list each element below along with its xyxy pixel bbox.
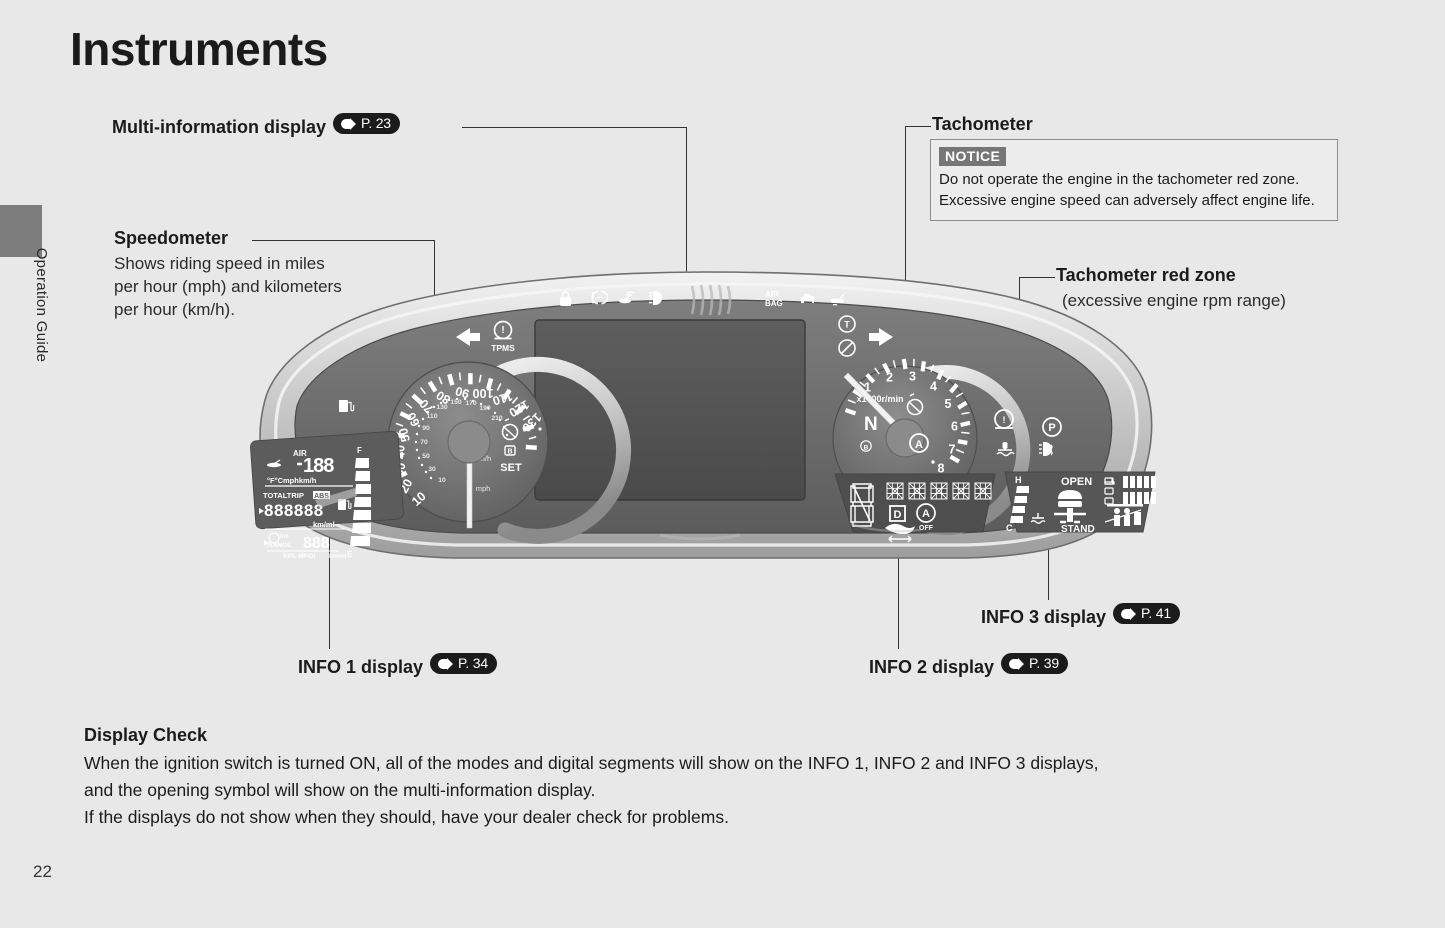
page-ref-pill-p39[interactable]: P. 39 (1001, 653, 1068, 674)
display-check-line-2: and the opening symbol will show on the … (84, 777, 1334, 804)
info1-fuel-f: F (357, 446, 362, 455)
multi-information-display-screen (535, 320, 805, 500)
arrow-icon (1118, 607, 1137, 619)
callout-info-3-display: INFO 3 displayP. 41 (981, 603, 1180, 628)
svg-text:B: B (507, 449, 512, 456)
svg-text:30: 30 (428, 466, 436, 473)
info3-open-label: OPEN (1061, 476, 1092, 488)
svg-text:B: B (864, 445, 869, 452)
info1-odo-unit: km/ml (313, 520, 335, 529)
svg-text:P: P (1048, 422, 1055, 434)
svg-text:110: 110 (427, 413, 438, 420)
svg-text:170: 170 (465, 400, 477, 407)
svg-text:130: 130 (436, 404, 448, 411)
svg-text:OFF: OFF (919, 525, 934, 532)
arrow-icon (1006, 657, 1025, 669)
svg-text:D: D (894, 509, 902, 521)
callout-info3-label: INFO 3 display (981, 607, 1106, 627)
neutral-indicator: N (864, 414, 878, 435)
callout-tachometer: Tachometer (932, 114, 1033, 135)
side-tab-label: Operation Guide (26, 220, 56, 390)
notice-line-2: Excessive engine speed can adversely aff… (939, 190, 1329, 211)
page-ref-text: P. 34 (458, 655, 488, 671)
svg-text:90: 90 (422, 425, 430, 432)
svg-text:2: 2 (886, 371, 893, 385)
callout-multi-information-label: Multi-information display (112, 117, 326, 137)
svg-text:50: 50 (422, 453, 430, 460)
callout-multi-information-display: Multi-information displayP. 23 (112, 113, 400, 138)
svg-text:6: 6 (951, 420, 958, 434)
page-ref-text: P. 23 (361, 115, 391, 131)
svg-text:4: 4 (930, 380, 937, 394)
speedometer-mph-unit: mph (476, 484, 491, 493)
callout-info-1-display: INFO 1 displayP. 34 (298, 653, 497, 678)
svg-text:A: A (915, 439, 923, 451)
callout-speedometer-label: Speedometer (114, 228, 414, 249)
info3-stand-label: STAND (1061, 524, 1095, 535)
page-ref-text: P. 41 (1141, 605, 1171, 621)
svg-text:!: ! (1003, 415, 1006, 425)
svg-text:210: 210 (491, 415, 503, 422)
svg-text:AIR: AIR (765, 290, 779, 299)
svg-text:TPMS: TPMS (491, 343, 515, 353)
callout-info1-label: INFO 1 display (298, 657, 423, 677)
page-ref-pill-p23[interactable]: P. 23 (333, 113, 400, 134)
page-ref-pill-p34[interactable]: P. 34 (430, 653, 497, 674)
svg-text:7: 7 (949, 443, 956, 457)
info-3-display: H C OPEN (1005, 472, 1156, 535)
svg-text:!: ! (501, 325, 504, 336)
page-title: Instruments (70, 22, 328, 76)
svg-text:188: 188 (303, 455, 334, 477)
svg-text:150: 150 (450, 399, 462, 406)
info1-fuel-e: E (347, 550, 353, 559)
svg-text:100: 100 (473, 386, 494, 400)
display-check-section: Display Check When the ignition switch i… (84, 725, 1334, 831)
svg-text:A: A (922, 508, 930, 520)
display-check-line-1: When the ignition switch is turned ON, a… (84, 750, 1334, 777)
info1-units: °F°Cmphkm/h (267, 476, 317, 485)
svg-text:T: T (844, 320, 850, 330)
info3-temp-h: H (1015, 475, 1022, 485)
display-check-heading: Display Check (84, 725, 1334, 746)
info1-range-value: 888 (303, 535, 330, 552)
page-ref-text: P. 39 (1029, 655, 1059, 671)
callout-tachometer-label: Tachometer (932, 114, 1033, 135)
svg-text:190: 190 (479, 405, 491, 412)
callout-info2-label: INFO 2 display (869, 657, 994, 677)
notice-tag: NOTICE (939, 147, 1006, 166)
display-check-line-3: If the displays do not show when they sh… (84, 804, 1334, 831)
svg-text:5: 5 (945, 397, 952, 411)
info1-range-label: RANGE (268, 542, 292, 549)
notice-box: NOTICE Do not operate the engine in the … (930, 139, 1338, 221)
callout-info-2-display: INFO 2 displayP. 39 (869, 653, 1068, 678)
set-label: SET (500, 462, 522, 474)
page-number: 22 (33, 862, 52, 882)
leader-line-multi-info-h (462, 127, 687, 128)
info1-range-unit: KP/L MP/Gl (283, 554, 316, 560)
info1-odometer: 888888 (264, 501, 324, 520)
svg-text:10: 10 (438, 477, 446, 484)
svg-text:km/ml: km/ml (329, 554, 347, 560)
info-2-display: D A OFF (835, 474, 995, 542)
info3-temp-c: C (1006, 523, 1013, 533)
leader-line-speedometer-h (252, 240, 435, 241)
manual-page: Operation Guide Instruments Multi-inform… (0, 0, 1445, 928)
svg-text:8: 8 (938, 462, 945, 476)
svg-text:BAG: BAG (765, 299, 783, 308)
info1-total-trip: TOTALTRIP (263, 491, 304, 500)
notice-line-1: Do not operate the engine in the tachome… (939, 169, 1329, 190)
leader-line-tachometer-h (905, 126, 931, 127)
svg-text:km: km (280, 534, 289, 540)
instrument-cluster-illustration: AIR BAG ! TPMS (205, 250, 1180, 570)
svg-text:3: 3 (909, 370, 916, 384)
svg-text:70: 70 (420, 439, 428, 446)
page-ref-pill-p41[interactable]: P. 41 (1113, 603, 1180, 624)
arrow-icon (435, 657, 454, 669)
arrow-icon (338, 117, 357, 129)
